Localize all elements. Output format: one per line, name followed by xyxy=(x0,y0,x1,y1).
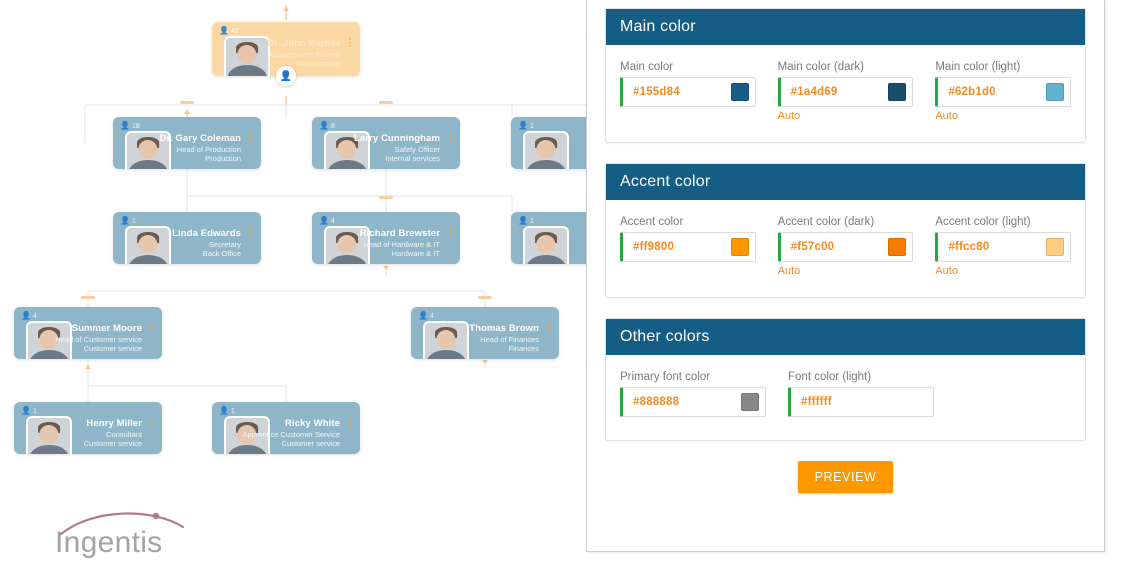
panel-inner: Main colorMain color#155d84Main color (d… xyxy=(587,0,1104,493)
node-headcount-value: 4 xyxy=(33,313,37,320)
org-node-n4[interactable]: 👤1Linda EdwardsSecretaryBack Office xyxy=(113,212,261,264)
person-icon: 👤 xyxy=(319,217,329,225)
node-text: Summer MooreHead of Customer serviceCust… xyxy=(55,323,142,354)
input-primary-font-color[interactable]: #888888 xyxy=(620,387,766,417)
org-node-n7[interactable]: 👤4Summer MooreHead of Customer serviceCu… xyxy=(14,307,162,359)
field-main-color: Main color#155d84 xyxy=(620,61,756,122)
field-accent-color: Accent color#ff9800 xyxy=(620,216,756,277)
org-node-n3[interactable]: 👤1 xyxy=(511,117,586,169)
node-headcount-badge: 👤18 xyxy=(120,122,140,130)
field-label-main-color-light: Main color (light) xyxy=(935,61,1071,73)
node-name: Richard Brewster xyxy=(360,228,440,240)
node-department: Finances xyxy=(469,344,539,353)
node-text: Ricky WhiteApprentice Customer ServiceCu… xyxy=(242,418,340,449)
node-role: Head of Production xyxy=(160,145,241,154)
node-name: Dr. John Barber xyxy=(267,38,340,50)
field-label-accent-color-dark: Accent color (dark) xyxy=(778,216,914,228)
node-avatar xyxy=(423,321,469,359)
node-role: Management Partner xyxy=(267,50,340,59)
input-value-font-color-light: #ffffff xyxy=(801,396,927,408)
node-text: Linda EdwardsSecretaryBack Office xyxy=(172,228,241,259)
node-kebab-menu-icon[interactable] xyxy=(151,418,153,427)
person-icon: 👤 xyxy=(518,217,528,225)
node-role: Head of Finances xyxy=(469,335,539,344)
node-headcount-badge: 👤4 xyxy=(21,312,37,320)
input-value-main-color: #155d84 xyxy=(633,86,731,98)
org-node-n10[interactable]: 👤1Ricky WhiteApprentice Customer Service… xyxy=(212,402,360,454)
node-headcount-value: 18 xyxy=(132,123,140,130)
node-avatar xyxy=(523,226,569,264)
node-name: Linda Edwards xyxy=(172,228,241,240)
org-node-n9[interactable]: 👤1Henry MillerConsultantCustomer service xyxy=(14,402,162,454)
person-icon: 👤 xyxy=(219,407,229,415)
color-swatch-accent-color[interactable] xyxy=(731,238,749,256)
org-node-n8[interactable]: 👤4Thomas BrownHead of FinancesFinances xyxy=(411,307,559,359)
node-name: Thomas Brown xyxy=(469,323,539,335)
node-headcount-value: 1 xyxy=(530,123,534,130)
field-label-font-color-light: Font color (light) xyxy=(788,371,934,383)
node-department: Management xyxy=(267,59,340,68)
auto-note-accent-color-dark: Auto xyxy=(778,265,914,277)
settings-sections: Main colorMain color#155d84Main color (d… xyxy=(605,8,1086,441)
node-text: Dr. John BarberManagement PartnerManagem… xyxy=(267,38,340,69)
node-department: Internal services xyxy=(354,154,440,163)
color-settings-panel: Main colorMain color#155d84Main color (d… xyxy=(586,0,1105,552)
node-headcount-badge: 👤1 xyxy=(518,217,534,225)
person-icon: 👤 xyxy=(120,122,130,130)
node-kebab-menu-icon[interactable] xyxy=(349,38,351,47)
org-node-n2[interactable]: 👤8Larry CunninghamSafety OfficerInternal… xyxy=(312,117,460,169)
node-kebab-menu-icon[interactable] xyxy=(250,228,252,237)
section-header-other-colors: Other colors xyxy=(606,319,1085,355)
node-name: Ricky White xyxy=(242,418,340,430)
input-accent-color[interactable]: #ff9800 xyxy=(620,232,756,262)
section-body-other-colors: Primary font color#888888Font color (lig… xyxy=(606,355,1085,440)
org-node-n1[interactable]: 👤18Dr. Gary ColemanHead of ProductionPro… xyxy=(113,117,261,169)
input-main-color-dark[interactable]: #1a4d69 xyxy=(778,77,914,107)
node-role: Consultant xyxy=(84,430,142,439)
section-other-colors: Other colorsPrimary font color#888888Fon… xyxy=(605,318,1086,441)
field-font-color-light: Font color (light)#ffffff xyxy=(788,371,934,420)
color-swatch-primary-font-color[interactable] xyxy=(741,393,759,411)
input-font-color-light[interactable]: #ffffff xyxy=(788,387,934,417)
logo-wordmark: Ingentis xyxy=(55,526,162,560)
node-headcount-badge: 👤1 xyxy=(518,122,534,130)
node-headcount-value: 42 xyxy=(231,28,239,35)
node-role: Secretary xyxy=(172,240,241,249)
input-value-primary-font-color: #888888 xyxy=(633,396,741,408)
field-label-primary-font-color: Primary font color xyxy=(620,371,766,383)
node-avatar xyxy=(224,36,270,76)
field-primary-font-color: Primary font color#888888 xyxy=(620,371,766,420)
node-department: Customer service xyxy=(242,439,340,448)
org-chart-canvas[interactable]: 👤42Dr. John BarberManagement PartnerMana… xyxy=(0,0,586,576)
field-main-color-dark: Main color (dark)#1a4d69Auto xyxy=(778,61,914,122)
node-kebab-menu-icon[interactable] xyxy=(449,228,451,237)
node-text: Dr. Gary ColemanHead of ProductionProduc… xyxy=(160,133,241,164)
node-name: Larry Cunningham xyxy=(354,133,440,145)
node-headcount-badge: 👤1 xyxy=(219,407,235,415)
node-text: Henry MillerConsultantCustomer service xyxy=(84,418,142,449)
color-swatch-accent-color-light[interactable] xyxy=(1046,238,1064,256)
node-kebab-menu-icon[interactable] xyxy=(548,323,550,332)
node-kebab-menu-icon[interactable] xyxy=(349,418,351,427)
person-icon: 👤 xyxy=(518,122,528,130)
person-icon: 👤 xyxy=(21,407,31,415)
input-accent-color-light[interactable]: #ffcc80 xyxy=(935,232,1071,262)
node-name: Henry Miller xyxy=(84,418,142,430)
input-accent-color-dark[interactable]: #f57c00 xyxy=(778,232,914,262)
section-header-main-color: Main color xyxy=(606,9,1085,45)
node-department: Back Office xyxy=(172,249,241,258)
node-name: Summer Moore xyxy=(55,323,142,335)
node-headcount-badge: 👤1 xyxy=(120,217,136,225)
node-headcount-value: 1 xyxy=(530,218,534,225)
node-role: Head of Hardware & IT xyxy=(360,240,440,249)
node-headcount-value: 1 xyxy=(231,408,235,415)
app-root: 👤42Dr. John BarberManagement PartnerMana… xyxy=(0,0,1126,576)
person-icon: 👤 xyxy=(219,27,229,35)
input-value-accent-color-light: #ffcc80 xyxy=(948,241,1046,253)
node-headcount-badge: 👤1 xyxy=(21,407,37,415)
color-swatch-main-color-light[interactable] xyxy=(1046,83,1064,101)
node-department: Hardware & IT xyxy=(360,249,440,258)
node-avatar xyxy=(26,416,72,454)
node-kebab-menu-icon[interactable] xyxy=(250,133,252,142)
auto-note-main-color-light: Auto xyxy=(935,110,1071,122)
node-department: Production xyxy=(160,154,241,163)
input-value-accent-color-dark: #f57c00 xyxy=(791,241,889,253)
input-value-accent-color: #ff9800 xyxy=(633,241,731,253)
auto-note-accent-color-light: Auto xyxy=(935,265,1071,277)
node-headcount-value: 4 xyxy=(430,313,434,320)
node-role: Apprentice Customer Service xyxy=(242,430,340,439)
node-text: Thomas BrownHead of FinancesFinances xyxy=(469,323,539,354)
preview-button[interactable]: PREVIEW xyxy=(798,461,894,493)
node-kebab-menu-icon[interactable] xyxy=(151,323,153,332)
node-avatar xyxy=(125,226,171,264)
org-chart-connectors xyxy=(0,0,586,576)
node-headcount-value: 1 xyxy=(132,218,136,225)
field-label-main-color-dark: Main color (dark) xyxy=(778,61,914,73)
person-icon: 👤 xyxy=(120,217,130,225)
node-headcount-badge: 👤4 xyxy=(319,217,335,225)
color-swatch-accent-color-dark[interactable] xyxy=(888,238,906,256)
node-department: Customer service xyxy=(84,439,142,448)
node-headcount-value: 1 xyxy=(33,408,37,415)
node-text: Larry CunninghamSafety OfficerInternal s… xyxy=(354,133,440,164)
preview-row: PREVIEW xyxy=(605,461,1086,493)
person-icon: 👤 xyxy=(418,312,428,320)
node-name: Dr. Gary Coleman xyxy=(160,133,241,145)
field-label-main-color: Main color xyxy=(620,61,756,73)
input-main-color[interactable]: #155d84 xyxy=(620,77,756,107)
node-text: Richard BrewsterHead of Hardware & ITHar… xyxy=(360,228,440,259)
section-body-accent-color: Accent color#ff9800Accent color (dark)#f… xyxy=(606,200,1085,297)
field-accent-color-dark: Accent color (dark)#f57c00Auto xyxy=(778,216,914,277)
field-main-color-light: Main color (light)#62b1d0Auto xyxy=(935,61,1071,122)
node-headcount-badge: 👤4 xyxy=(418,312,434,320)
node-department: Customer service xyxy=(55,344,142,353)
node-role: Head of Customer service xyxy=(55,335,142,344)
section-accent-color: Accent colorAccent color#ff9800Accent co… xyxy=(605,163,1086,298)
node-headcount-badge: 👤42 xyxy=(219,27,239,35)
input-value-main-color-dark: #1a4d69 xyxy=(791,86,889,98)
org-node-n6[interactable]: 👤1Se xyxy=(511,212,586,264)
node-headcount-badge: 👤8 xyxy=(319,122,335,130)
person-icon: 👤 xyxy=(319,122,329,130)
field-label-accent-color-light: Accent color (light) xyxy=(935,216,1071,228)
ingentis-logo: Ingentis xyxy=(55,510,195,566)
node-kebab-menu-icon[interactable] xyxy=(449,133,451,142)
node-role: Safety Officer xyxy=(354,145,440,154)
org-node-n5[interactable]: 👤4Richard BrewsterHead of Hardware & ITH… xyxy=(312,212,460,264)
section-header-accent-color: Accent color xyxy=(606,164,1085,200)
section-main-color: Main colorMain color#155d84Main color (d… xyxy=(605,8,1086,143)
person-icon: 👤 xyxy=(21,312,31,320)
root-collapse-handle-icon[interactable]: 👤 xyxy=(276,66,296,86)
color-swatch-main-color[interactable] xyxy=(731,83,749,101)
auto-note-main-color-dark: Auto xyxy=(778,110,914,122)
node-headcount-value: 8 xyxy=(331,123,335,130)
section-body-main-color: Main color#155d84Main color (dark)#1a4d6… xyxy=(606,45,1085,142)
field-label-accent-color: Accent color xyxy=(620,216,756,228)
color-swatch-main-color-dark[interactable] xyxy=(888,83,906,101)
input-main-color-light[interactable]: #62b1d0 xyxy=(935,77,1071,107)
field-accent-color-light: Accent color (light)#ffcc80Auto xyxy=(935,216,1071,277)
node-headcount-value: 4 xyxy=(331,218,335,225)
node-avatar xyxy=(523,131,569,169)
input-value-main-color-light: #62b1d0 xyxy=(948,86,1046,98)
